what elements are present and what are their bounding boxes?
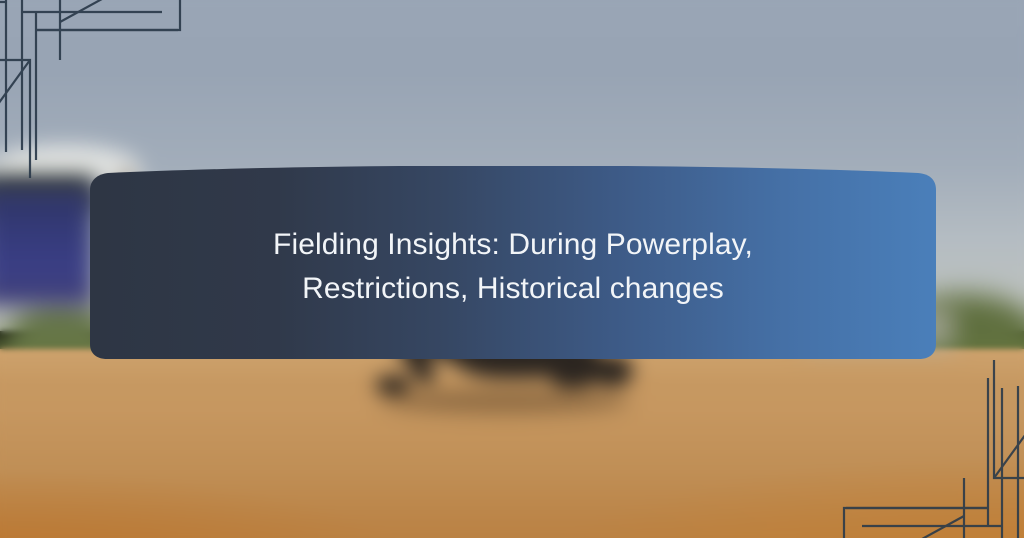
slide-canvas: Fielding Insights: During Powerplay, Res… [0, 0, 1024, 538]
banner-title-line-2: Restrictions, Historical changes [302, 267, 724, 311]
title-banner: Fielding Insights: During Powerplay, Res… [88, 166, 938, 362]
banner-title-line-1: Fielding Insights: During Powerplay, [273, 223, 753, 267]
banner-text-block: Fielding Insights: During Powerplay, Res… [88, 166, 938, 362]
